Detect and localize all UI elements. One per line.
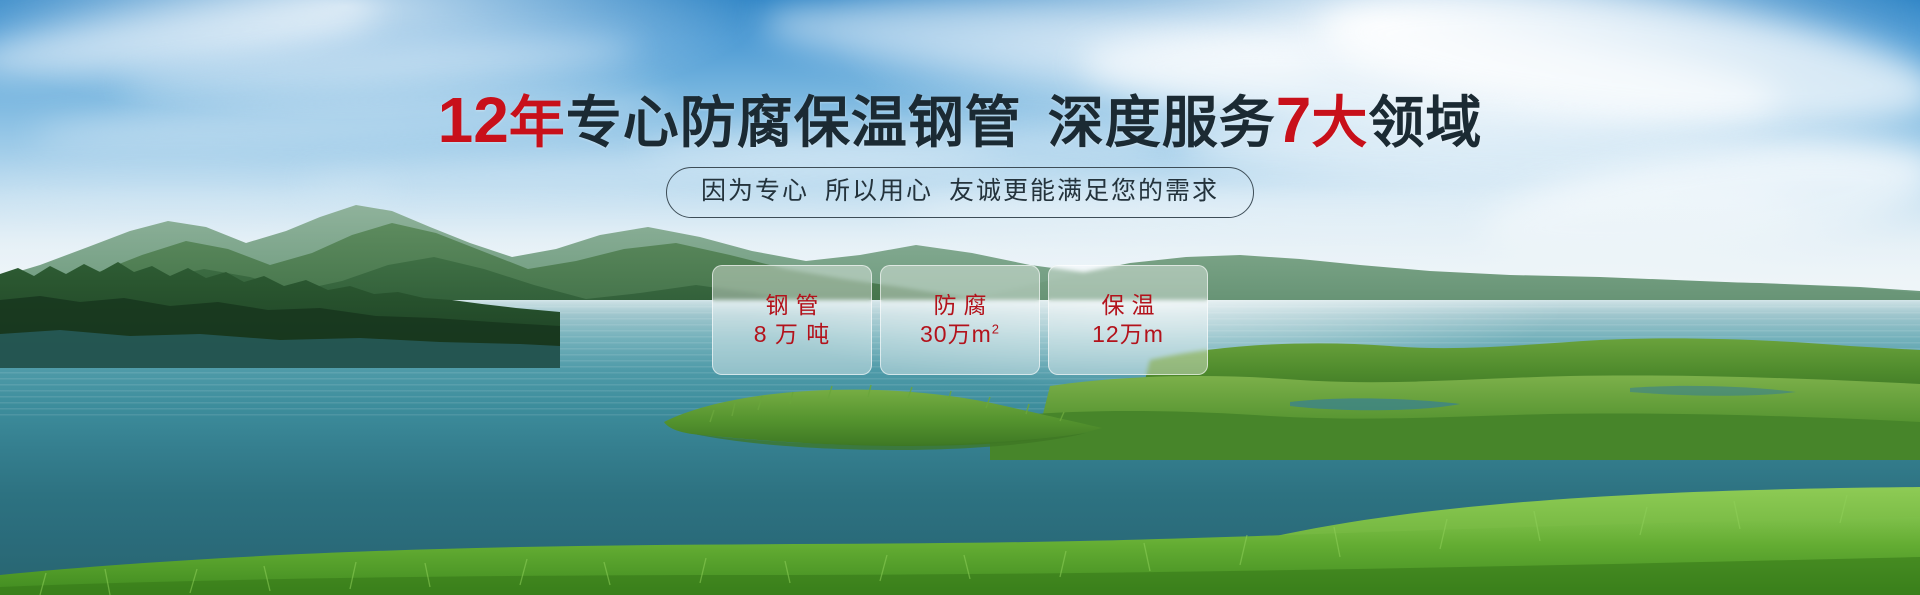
headline-years-number: 12: [438, 84, 509, 156]
stat-card-insulation: 保温 12万m: [1048, 265, 1208, 375]
subtitle-part-3: 友诚更能满足您的需求: [949, 177, 1219, 205]
stat-value-text: 12万m: [1092, 321, 1164, 347]
headline-service-phrase: 深度服务: [1048, 91, 1276, 154]
headline-fields-measure: 大: [1311, 91, 1368, 154]
hero-banner: 12年专心防腐保温钢管深度服务7大领域 因为专心所以用心友诚更能满足您的需求 钢…: [0, 0, 1920, 595]
stat-card-group: 钢管 8 万 吨 防腐 30万m2 保温 12万m: [0, 265, 1920, 375]
stat-value-text: 30万m: [920, 321, 992, 347]
stat-card-steel-pipe: 钢管 8 万 吨: [712, 265, 872, 375]
banner-content: 12年专心防腐保温钢管深度服务7大领域 因为专心所以用心友诚更能满足您的需求 钢…: [0, 0, 1920, 595]
headline-main-phrase: 专心防腐保温钢管: [566, 91, 1022, 154]
subtitle-pill: 因为专心所以用心友诚更能满足您的需求: [666, 167, 1254, 218]
stat-card-label: 钢管: [759, 294, 826, 317]
stat-value-superscript: 2: [992, 321, 1000, 336]
page-title: 12年专心防腐保温钢管深度服务7大领域: [0, 88, 1920, 152]
stat-card-anticorrosion: 防腐 30万m2: [880, 265, 1040, 375]
stat-card-value: 30万m2: [920, 323, 1000, 346]
stat-card-label: 保温: [1095, 294, 1162, 317]
headline-fields-word: 领域: [1368, 91, 1482, 154]
stat-card-label: 防腐: [927, 294, 994, 317]
headline-years-unit: 年: [509, 91, 566, 154]
headline-fields-number: 7: [1276, 84, 1312, 156]
stat-value-text: 8 万 吨: [754, 321, 831, 347]
subtitle-container: 因为专心所以用心友诚更能满足您的需求: [0, 167, 1920, 218]
stat-card-value: 12万m: [1092, 323, 1164, 346]
subtitle-part-1: 因为专心: [701, 177, 809, 205]
subtitle-part-2: 所以用心: [825, 177, 933, 205]
stat-card-value: 8 万 吨: [754, 323, 831, 346]
